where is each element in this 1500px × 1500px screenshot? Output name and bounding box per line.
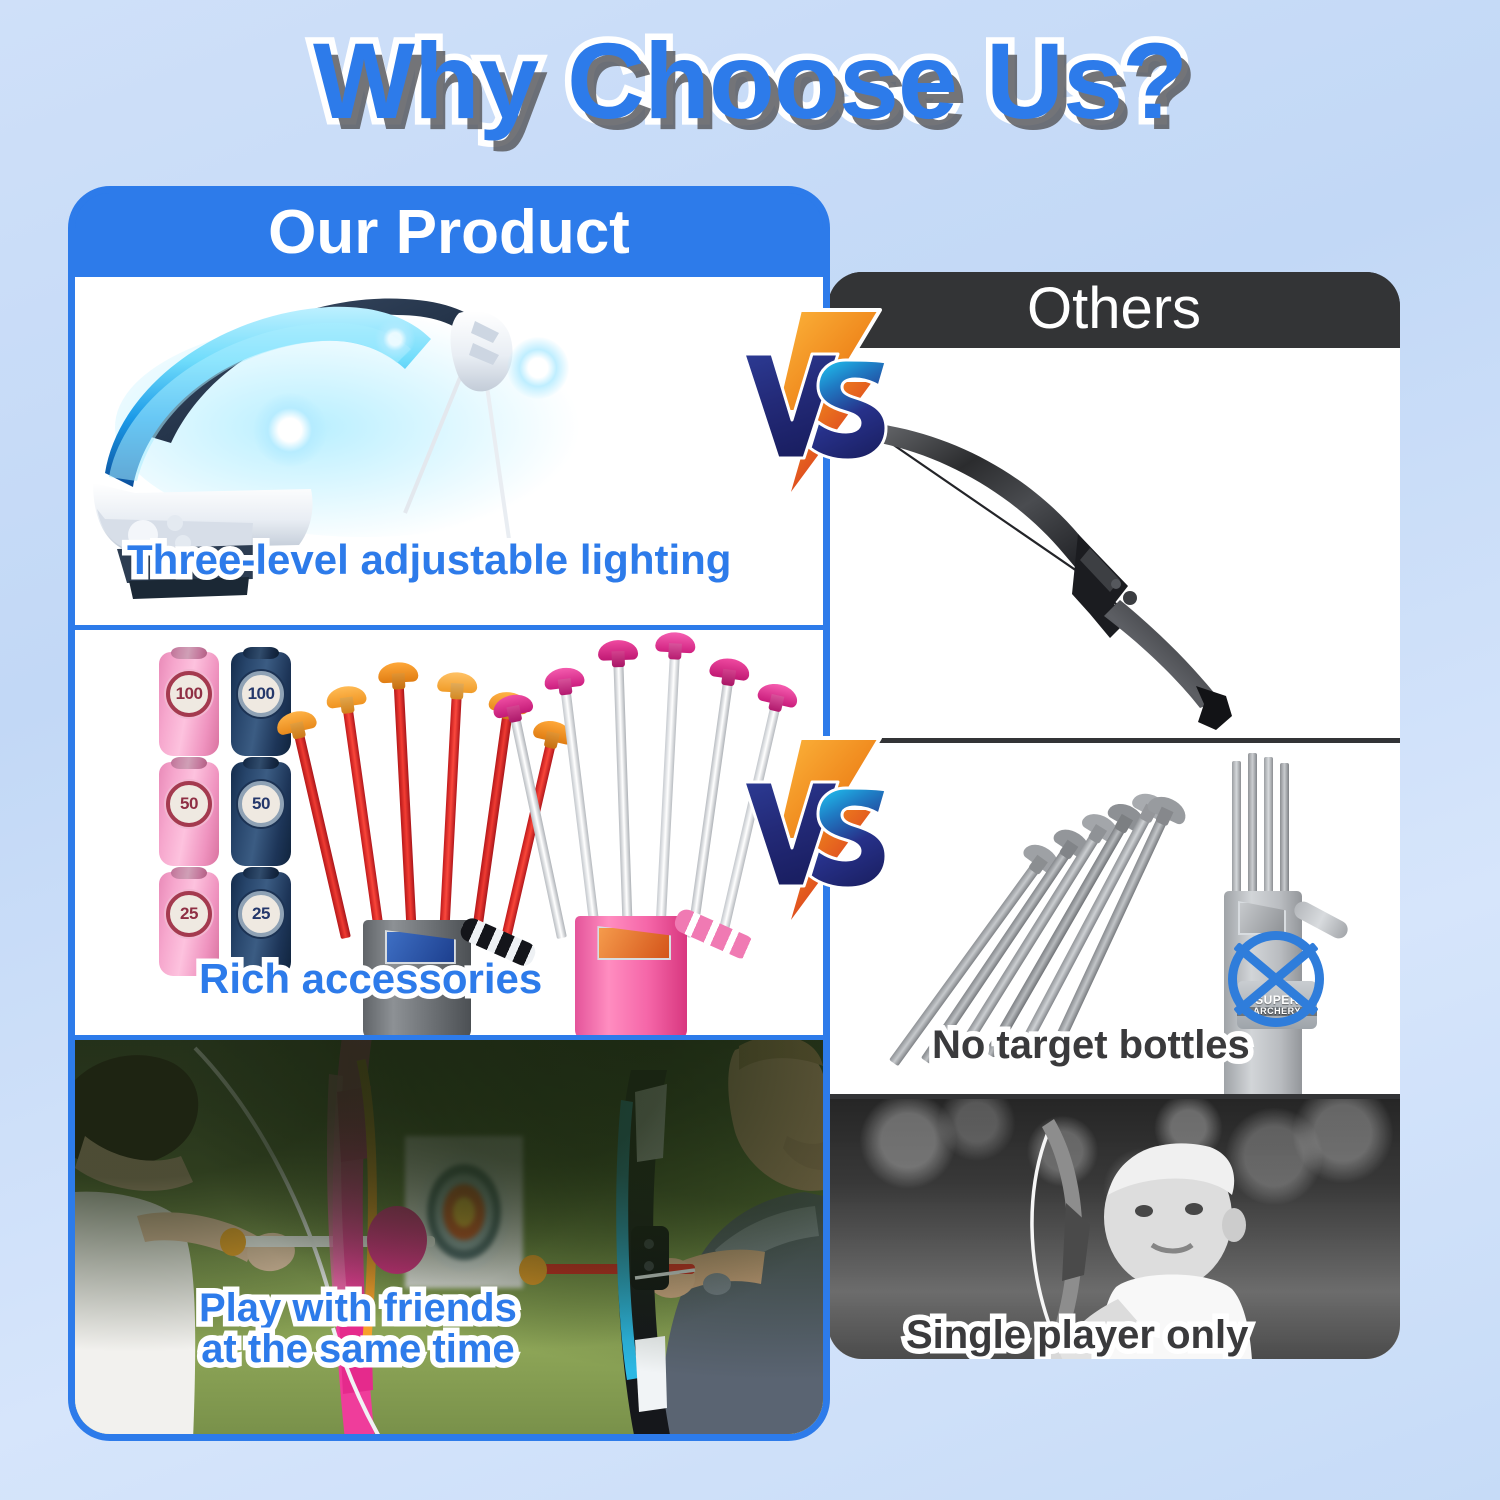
suction-arrow-icon xyxy=(393,676,417,938)
suction-arrow-icon xyxy=(471,706,513,939)
plain-bow-icon xyxy=(828,348,1400,738)
target-ring xyxy=(427,1164,501,1260)
light-sparkle-icon xyxy=(375,319,415,359)
ours-cell-multiplayer: Play with friends at the same time xyxy=(75,1035,823,1434)
plain-bow-illustration xyxy=(828,348,1400,738)
suction-arrow-icon xyxy=(1248,753,1257,909)
others-cell-no-bottles: SUPER ARCHERY No target bottles xyxy=(828,738,1400,1094)
pink-quiver-group xyxy=(545,630,775,1035)
others-column-header: Others xyxy=(828,272,1400,348)
vs-lightning-badge xyxy=(742,308,902,503)
vs-badge-lighting xyxy=(742,308,902,503)
target-ring xyxy=(443,1184,485,1240)
target-can-value: 25 xyxy=(238,891,284,937)
our-product-column-header-label: Our Product xyxy=(268,202,630,264)
target-can-icon: 100 xyxy=(231,652,291,756)
ours-caption-multiplayer: Play with friends at the same time xyxy=(199,1288,517,1370)
vs-badge-accessories xyxy=(742,736,902,931)
others-column: Others xyxy=(828,272,1400,1359)
others-column-header-label: Others xyxy=(1027,280,1201,338)
our-product-column: Our Product xyxy=(68,186,830,1441)
suction-arrow-icon xyxy=(613,654,633,938)
target-can-value: 50 xyxy=(238,781,284,827)
target-can-icon: 50 xyxy=(231,762,291,866)
target-ring xyxy=(418,1153,510,1271)
target-can-value: 100 xyxy=(166,671,212,717)
quiver-window xyxy=(597,926,671,960)
target-can-icon: 50 xyxy=(159,762,219,866)
our-product-column-header: Our Product xyxy=(75,193,823,277)
suction-arrow-icon xyxy=(439,686,462,938)
light-sparkle-icon xyxy=(507,337,569,399)
x-circle-icon xyxy=(1228,931,1324,1027)
ours-cell-accessories: 100 50 25 100 50 25 xyxy=(75,625,823,1035)
archery-target-icon xyxy=(405,1136,523,1288)
quiver-window xyxy=(1238,901,1286,935)
target-can-value: 50 xyxy=(166,781,212,827)
suction-arrow-icon xyxy=(655,646,680,938)
others-caption-single-player: Single player only xyxy=(906,1315,1248,1355)
ours-caption-accessories: Rich accessories xyxy=(199,958,542,1000)
vs-lightning-badge xyxy=(742,736,902,931)
ours-cell-lighting: Three-level adjustable lighting xyxy=(75,277,823,625)
suction-arrow-icon xyxy=(342,700,385,939)
two-kids-photo xyxy=(75,1040,823,1434)
suction-arrow-icon xyxy=(560,681,601,938)
target-can-icon: 100 xyxy=(159,652,219,756)
suction-arrow-icon xyxy=(292,724,351,939)
target-can-value: 25 xyxy=(166,891,212,937)
target-can-value: 100 xyxy=(238,671,284,717)
others-column-body: No lighting xyxy=(828,348,1400,1359)
light-sparkle-icon xyxy=(253,393,327,467)
others-cell-no-lighting: No lighting xyxy=(828,348,1400,738)
our-product-column-body: Three-level adjustable lighting 100 50 2… xyxy=(75,277,823,1434)
suction-arrow-icon xyxy=(1280,763,1289,909)
target-ring xyxy=(435,1174,493,1250)
ours-caption-lighting: Three-level adjustable lighting xyxy=(127,539,731,581)
suction-arrow-icon xyxy=(1232,761,1241,909)
suction-arrow-icon xyxy=(1264,757,1273,909)
page-title: Why Choose Us? xyxy=(0,18,1500,143)
quiver-icon xyxy=(575,916,687,1035)
two-kids-figures xyxy=(75,1040,823,1434)
target-ring xyxy=(453,1197,475,1227)
others-cell-single-player: Single player only xyxy=(828,1094,1400,1359)
others-caption-no-bottles: No target bottles xyxy=(932,1025,1250,1065)
